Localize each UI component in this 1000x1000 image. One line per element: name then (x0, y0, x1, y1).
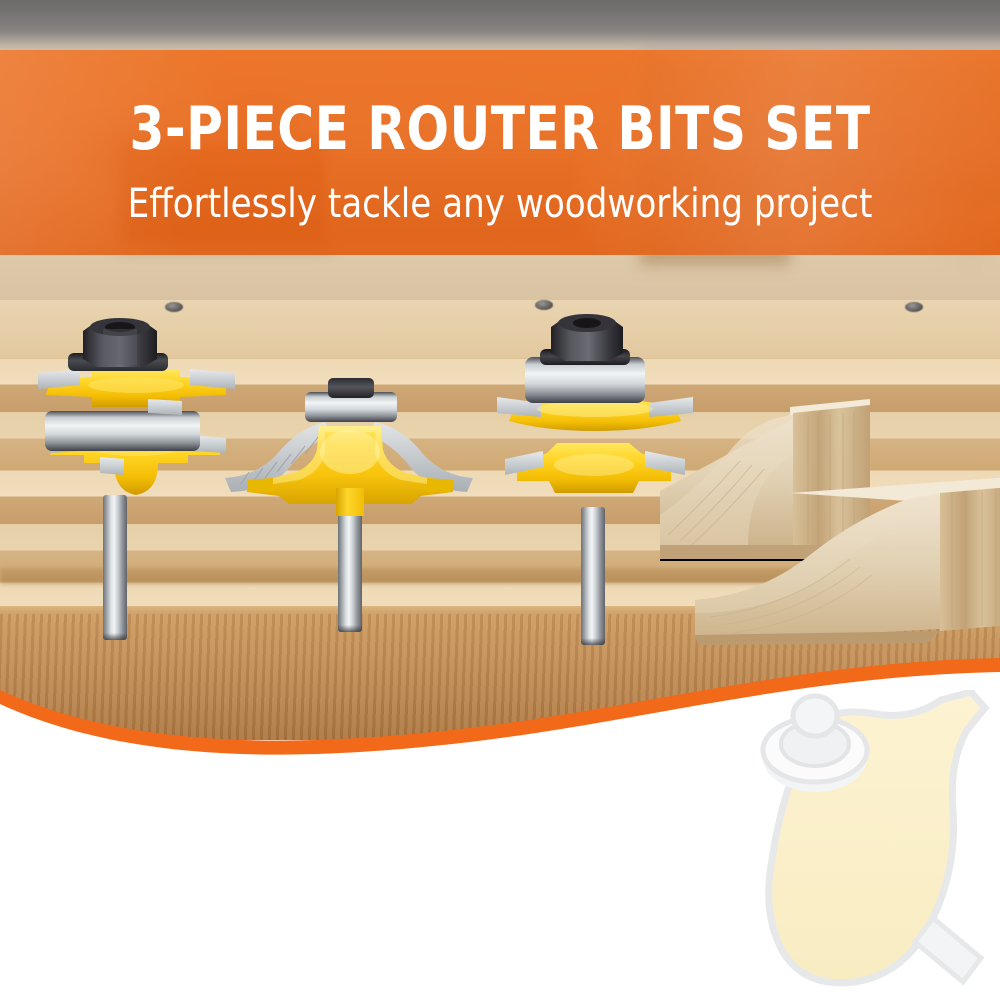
bench-screw (535, 300, 553, 310)
bit-2-screw-head (328, 378, 374, 398)
router-bit-2 (250, 382, 460, 642)
background-ceiling (0, 0, 1000, 40)
bench-screw (165, 302, 183, 312)
product-image-root: 3-PIECE ROUTER BITS SET Effortlessly tac… (0, 0, 1000, 1000)
bit-1-shank (103, 495, 127, 640)
page-title: 3-PIECE ROUTER BITS SET (35, 94, 965, 164)
bit-1-upper-cutter (30, 363, 245, 429)
bench-screw (905, 302, 923, 312)
bit-3-shank (581, 507, 605, 645)
bit-1-hex-nut (75, 317, 165, 372)
hero-photo: 3-PIECE ROUTER BITS SET Effortlessly tac… (0, 0, 1000, 740)
router-bit-3 (495, 335, 715, 635)
bit-3-hex-nut (543, 313, 631, 365)
bit-3-lower-cutter (495, 443, 695, 523)
page-subtitle: Effortlessly tackle any woodworking proj… (25, 181, 975, 227)
bit-2-shank (338, 504, 362, 632)
bit-2-neck (336, 488, 364, 516)
set-details-section: Set Details (mm): Stile & Rail Set-Ogee … (0, 760, 1000, 1000)
